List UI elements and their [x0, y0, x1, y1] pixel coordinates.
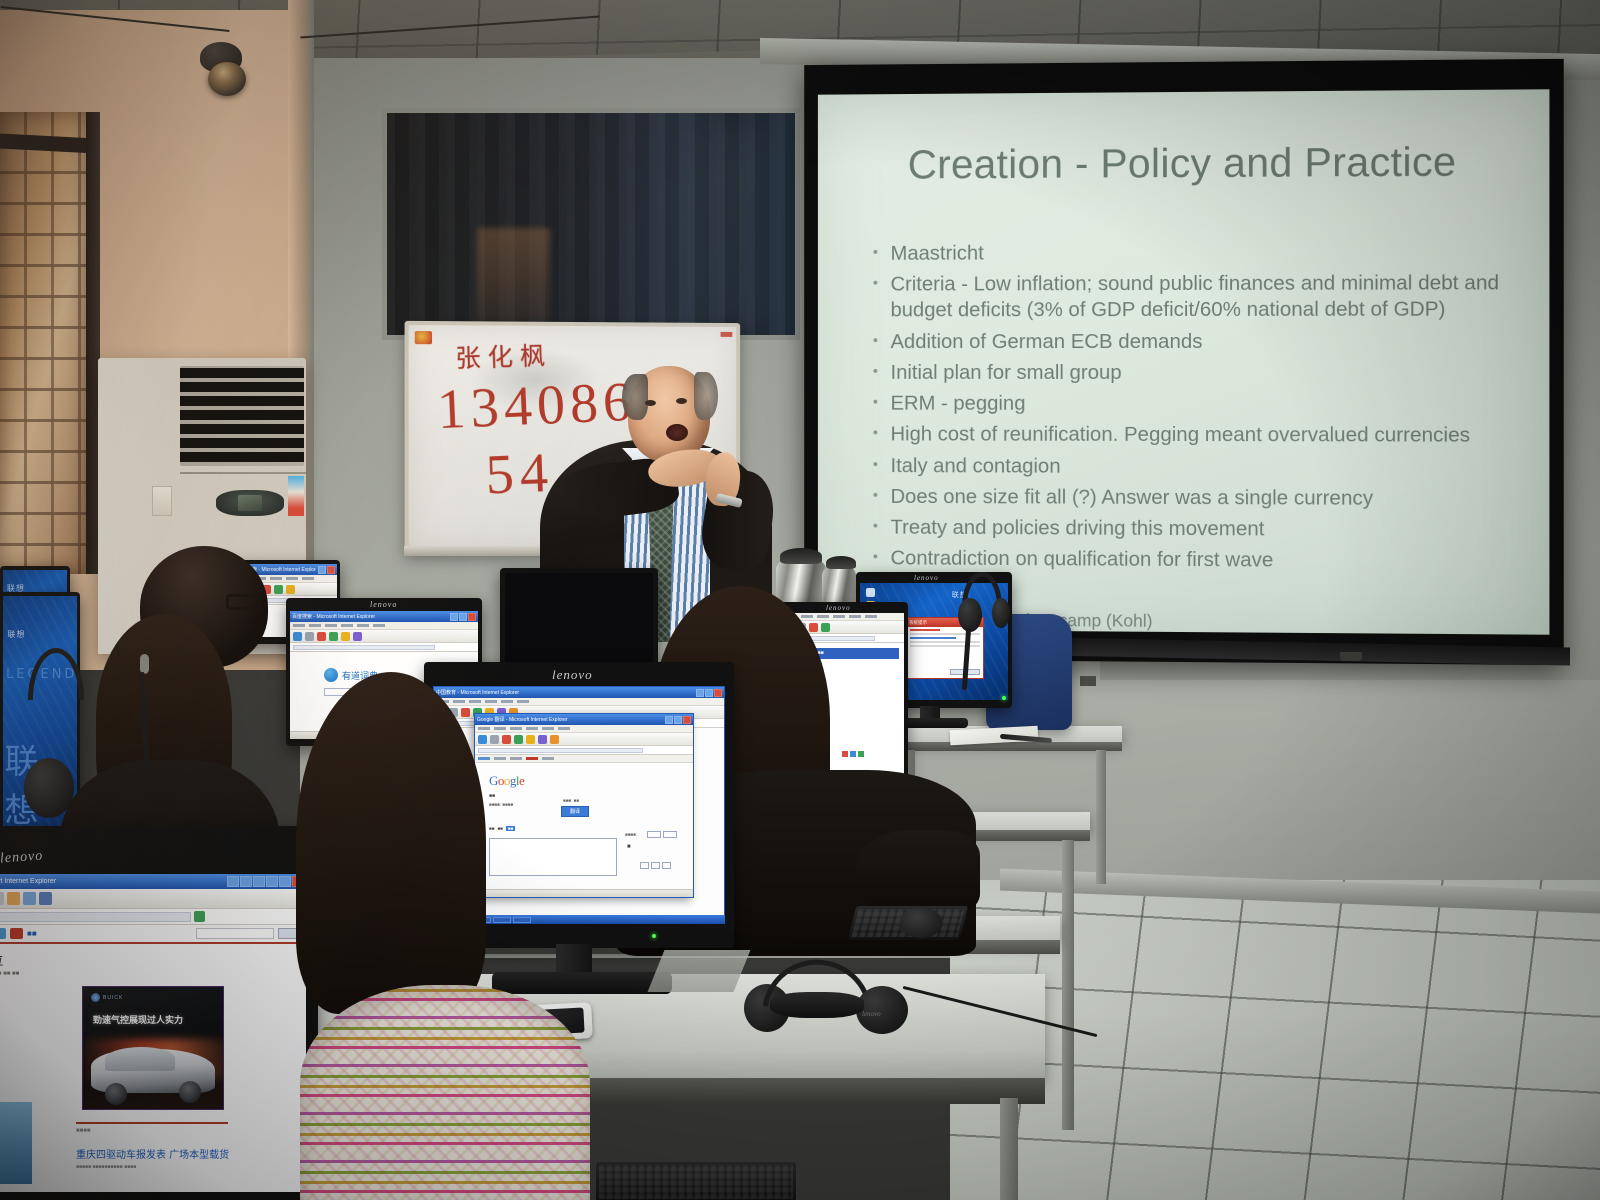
lenovo-logo-icon: lenovo: [826, 604, 851, 612]
headset-earcup: [992, 598, 1010, 628]
buick-brand: BUICK: [91, 993, 123, 1002]
toolbar[interactable]: [0, 889, 306, 909]
wall-bracket: [1080, 676, 1096, 686]
car-advertisement[interactable]: BUICK 勁速气控展现过人实力: [82, 986, 224, 1110]
share-icons[interactable]: [842, 751, 864, 757]
thermos-lid-2: [826, 556, 856, 569]
lecturer-hair-left: [622, 374, 648, 420]
bullet-marker-icon: •: [873, 546, 891, 569]
window-title: Google 翻译 - Microsoft Internet Explorer: [477, 716, 568, 723]
lenovo-logo-icon: lenovo: [862, 1010, 881, 1018]
stop-icon[interactable]: [461, 708, 470, 717]
search-icon[interactable]: [353, 632, 362, 641]
refresh-icon[interactable]: [329, 632, 338, 641]
minimize-icon[interactable]: [279, 876, 291, 887]
minimize-icon[interactable]: [318, 566, 326, 574]
target-lang-label: ■■■■:: [625, 832, 637, 837]
ad-headline: 勁速气控展现过人实力: [93, 1013, 183, 1026]
bullet-marker-icon: •: [873, 360, 891, 383]
keyboard-front[interactable]: [596, 1162, 796, 1200]
slide-bullet-text: Criteria - Low inflation; sound public f…: [891, 270, 1534, 324]
bullet-marker-icon: •: [873, 515, 891, 538]
popup-text-line: [910, 637, 956, 639]
window-titlebar: 百度搜索 - Microsoft Internet Explorer: [290, 611, 478, 622]
address-bar[interactable]: [475, 746, 693, 755]
wall-light-switch[interactable]: [152, 486, 172, 516]
eyeglasses-icon: [226, 594, 262, 610]
tab-row[interactable]: ■■ ■■ ■■: [489, 826, 515, 831]
headset-earcup: [958, 598, 982, 632]
slide-bullet-text: Italy and contagion: [891, 453, 1534, 481]
car-roof: [105, 1047, 175, 1071]
lang-option-a[interactable]: [647, 831, 661, 838]
toolbar[interactable]: [290, 630, 478, 643]
slide-bullet: • Initial plan for small group: [873, 360, 1533, 386]
lenovo-logo-icon: lenovo: [0, 849, 44, 868]
section-divider: [76, 1122, 228, 1124]
whiteboard-name-text: 张化枫: [455, 336, 553, 375]
window-titlebar: 中国教育 - Microsoft Internet Explorer: [434, 687, 724, 698]
whiteboard-number-line-2: 54: [485, 441, 556, 508]
translate-from-label: ■■■■: ■■■■: [489, 802, 693, 807]
bullet-marker-icon: •: [873, 422, 891, 445]
back-icon[interactable]: [478, 735, 487, 744]
close-icon[interactable]: [468, 613, 476, 621]
maximize-icon[interactable]: [459, 613, 467, 621]
popup-title: 系统提示: [909, 620, 927, 626]
whiteboard-number-line-1: 134086: [436, 370, 637, 442]
result-text: ■: [627, 844, 631, 850]
close-icon[interactable]: [714, 689, 722, 697]
stop-icon[interactable]: [317, 632, 326, 641]
window-titlebar: Microsoft Internet Explorer: [0, 874, 306, 889]
monitor-front-left: lenovo Microsoft Internet Explorer: [0, 826, 318, 1200]
headset-headband-pad: [770, 992, 864, 1018]
mouse-back[interactable]: [900, 908, 942, 938]
result-button[interactable]: [662, 862, 671, 869]
student-center-arm: [856, 830, 980, 916]
whiteboard-sticker-icon: [415, 331, 432, 344]
folder-icon[interactable]: [7, 892, 20, 905]
home-icon[interactable]: [526, 735, 535, 744]
google-logo-g1: G: [489, 773, 498, 788]
google-logo: Google: [489, 773, 693, 789]
menu-bar[interactable]: [475, 725, 693, 733]
page-meta: ■■■ ■■■ ■■ ■■: [0, 969, 306, 979]
search-icon[interactable]: [538, 735, 547, 744]
headset-microphone: [140, 654, 149, 674]
refresh-icon[interactable]: [274, 585, 283, 594]
slide-bullet-text: ERM - pegging: [891, 391, 1534, 418]
window-title: 百度搜索 - Microsoft Internet Explorer: [292, 613, 375, 620]
side-thumbnail[interactable]: [0, 1102, 32, 1184]
nav-icon[interactable]: [10, 928, 23, 939]
forward-icon[interactable]: [490, 735, 499, 744]
print-icon[interactable]: [39, 892, 52, 905]
taskbar-item[interactable]: [493, 917, 511, 923]
go-icon[interactable]: [194, 911, 205, 922]
student-front-hair: [296, 672, 486, 1014]
monitor-screen[interactable]: [505, 573, 653, 670]
window-buttons[interactable]: [696, 689, 722, 697]
result-button[interactable]: [640, 862, 649, 869]
projector-screen-hook: [1340, 652, 1362, 661]
tab-active[interactable]: ■■: [506, 826, 515, 831]
forward-icon[interactable]: [305, 632, 314, 641]
bullet-marker-icon: •: [873, 391, 891, 414]
slide-bullet: • High cost of reunification. Pegging me…: [873, 422, 1533, 450]
whiteboard-corner-mark: [721, 332, 733, 337]
desk-front-leg: [1000, 1098, 1018, 1200]
slide-bullet: • Criteria - Low inflation; sound public…: [873, 270, 1533, 324]
monitor-screen[interactable]: Microsoft Internet Explorer: [0, 874, 306, 1192]
lenovo-logo-icon: lenovo: [914, 574, 939, 582]
section-label: ■■■■: [76, 1128, 91, 1134]
projected-slide: Creation - Policy and Practice • Maastri…: [818, 89, 1550, 634]
restore-icon[interactable]: [240, 876, 252, 887]
print-icon[interactable]: [253, 876, 265, 887]
thermos-lid: [780, 548, 822, 564]
window-security-grille: [0, 112, 87, 574]
site-search-input[interactable]: [196, 928, 274, 939]
links-bar[interactable]: [475, 755, 693, 763]
slide-bullet: • Addition of German ECB demands: [873, 328, 1533, 355]
copy-icon[interactable]: [0, 892, 4, 905]
security-camera-icon: [208, 62, 246, 96]
window-buttons[interactable]: [318, 566, 335, 574]
share-icon[interactable]: [842, 751, 848, 757]
close-icon[interactable]: [683, 716, 691, 724]
mail-icon[interactable]: [266, 876, 278, 887]
slide-bullet: • Does one size fit all (?) Answer was a…: [873, 484, 1533, 513]
slide-bullet: • Maastricht: [873, 239, 1533, 267]
lecturer-eye-left: [645, 400, 656, 406]
slide-bullet: • Italy and contagion: [873, 453, 1533, 481]
car-wheel-rear: [179, 1081, 201, 1103]
slide-bullet-text: Treaty and policies driving this movemen…: [891, 515, 1534, 544]
home-icon[interactable]: [227, 876, 239, 887]
refresh-icon[interactable]: [821, 623, 830, 632]
nav-label[interactable]: ■■: [27, 929, 37, 938]
google-translate-window[interactable]: Google 翻译 - Microsoft Internet Explorer: [474, 713, 694, 898]
desk-leg: [1062, 840, 1074, 1130]
air-conditioner-seam: [180, 472, 306, 474]
google-logo-e: e: [519, 773, 524, 788]
translate-heading: ■■: [489, 793, 693, 799]
air-conditioner-display: [238, 495, 262, 511]
bullet-marker-icon: •: [873, 272, 891, 295]
lenovo-wallpaper-logo: 联想: [7, 629, 25, 640]
home-icon[interactable]: [341, 632, 350, 641]
window-buttons[interactable]: [227, 876, 304, 887]
monitor-stand-plate: [648, 950, 751, 992]
address-bar[interactable]: [0, 909, 306, 925]
site-nav[interactable]: ■■: [0, 925, 306, 944]
slide-bullet-text: Initial plan for small group: [891, 360, 1534, 386]
curtain-folds: [387, 113, 795, 335]
share-icon[interactable]: [858, 751, 864, 757]
window-buttons[interactable]: [665, 716, 691, 724]
lenovo-logo-icon: lenovo: [370, 600, 397, 609]
power-led: [1002, 696, 1006, 700]
bullet-marker-icon: •: [873, 329, 891, 352]
share-icon[interactable]: [850, 751, 856, 757]
popup-text-line: [910, 629, 940, 631]
energy-label-sticker: [288, 476, 304, 516]
lang-option-b[interactable]: [663, 831, 677, 838]
minimize-icon[interactable]: [450, 613, 458, 621]
nav-icon[interactable]: [0, 928, 6, 939]
maximize-icon[interactable]: [705, 689, 713, 697]
window-title: Microsoft Internet Explorer: [0, 878, 56, 885]
result-controls[interactable]: [640, 862, 671, 869]
window-title: 中国教育 - Microsoft Internet Explorer: [436, 689, 519, 696]
lenovo-logo-icon: lenovo: [552, 667, 593, 683]
home-icon[interactable]: [286, 585, 295, 594]
favorites-icon[interactable]: [550, 735, 559, 744]
lecturer-eye-right: [676, 398, 687, 404]
translate-textarea[interactable]: [489, 838, 617, 876]
slide-bullet-text: Addition of German ECB demands: [891, 328, 1534, 355]
history-icon[interactable]: [23, 892, 36, 905]
slide-title: Creation - Policy and Practice: [818, 138, 1550, 189]
lecturer-hair-right: [694, 372, 718, 420]
buick-logo-icon: [91, 993, 100, 1002]
tab-text[interactable]: ■■: [489, 826, 494, 831]
menu-bar[interactable]: [434, 698, 724, 706]
address-bar[interactable]: [290, 643, 478, 652]
article-summary: ■■■■■ ■■■■■■■■■■ ■■■■: [76, 1164, 136, 1170]
bullet-marker-icon: •: [873, 453, 891, 476]
slide-bullet: • ERM - pegging: [873, 391, 1533, 418]
left-window: [0, 112, 96, 574]
menu-bar[interactable]: [290, 622, 478, 630]
translate-button-label: 翻译: [561, 807, 589, 818]
lecturer-mouth: [666, 424, 688, 441]
minimize-icon[interactable]: [696, 689, 704, 697]
buick-wordmark: BUICK: [103, 995, 123, 1001]
bullet-marker-icon: •: [873, 241, 891, 264]
youdao-globe-icon: [324, 668, 338, 682]
translate-to-label: ■■■: ■■: [563, 798, 579, 803]
my-computer-icon[interactable]: [866, 588, 875, 597]
bullet-marker-icon: •: [873, 484, 891, 507]
desk-row-3-edge: [900, 742, 1122, 751]
status-bar: [475, 889, 693, 897]
rear-window: [382, 108, 800, 340]
desk-leg: [1096, 750, 1106, 884]
close-icon[interactable]: [327, 566, 335, 574]
article-headline[interactable]: 重庆四驱动车报发表 广场本型载货: [76, 1146, 229, 1161]
window-buttons[interactable]: [450, 613, 476, 621]
stop-icon[interactable]: [809, 623, 818, 632]
stop-icon[interactable]: [502, 735, 511, 744]
slide-bullet-text: Does one size fit all (?) Answer was a s…: [891, 484, 1534, 513]
taskbar-item[interactable]: [513, 917, 531, 923]
slide-bullet-text: High cost of reunification. Pegging mean…: [891, 422, 1534, 450]
minimize-icon[interactable]: [665, 716, 673, 724]
student-front-sweater: [300, 985, 590, 1200]
headset-earcup: [24, 758, 74, 818]
slide-bullet: • Treaty and policies driving this movem…: [873, 515, 1533, 544]
curtain-light-leak: [477, 228, 550, 321]
tab-page[interactable]: ■■: [497, 826, 502, 831]
slide-bullet-text: Maastricht: [891, 239, 1534, 267]
toolbar[interactable]: [475, 733, 693, 746]
page-heading: ■位: [0, 944, 306, 969]
maximize-icon[interactable]: [674, 716, 682, 724]
result-button[interactable]: [651, 862, 660, 869]
window-titlebar: Google 翻译 - Microsoft Internet Explorer: [475, 714, 693, 725]
air-conditioner-vent-icon: [180, 366, 304, 466]
classroom-scene: 张化枫 134086 54 Creation - Policy and Prac…: [0, 0, 1600, 1200]
back-icon[interactable]: [293, 632, 302, 641]
power-led: [652, 934, 656, 938]
car-wheel-front: [105, 1083, 127, 1105]
refresh-icon[interactable]: [514, 735, 523, 744]
